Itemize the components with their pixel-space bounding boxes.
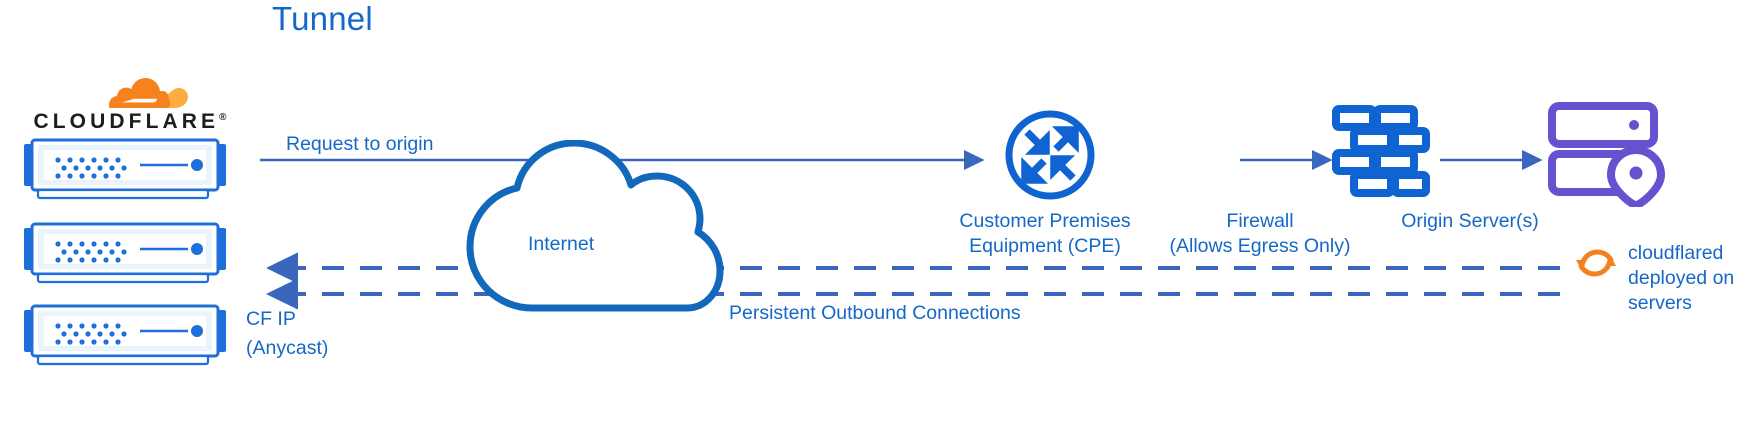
router-four-arrows-icon [1003,108,1097,202]
cf-server-unit-3 [22,304,228,366]
origin-server-label: Origin Server(s) [1310,209,1630,234]
origin-server-node [1548,102,1678,212]
origin-server-label-line1: Origin Server(s) [1310,209,1630,234]
origin-server-pin-icon [1548,102,1678,207]
cloudflared-annotation [1572,240,1620,291]
cloudflared-label-line2: deployed on [1628,266,1748,291]
cf-server-unit-1 [22,138,228,200]
cpe-label-line2: Equipment (CPE) [900,234,1190,259]
cloudflare-edge-server-icon [22,304,228,366]
cpe-node [1003,108,1097,207]
cf-ip-label-line2: (Anycast) [246,334,396,363]
cpe-label: Customer Premises Equipment (CPE) [900,209,1190,259]
cloudflare-wordmark: CLOUDFLARE® [30,110,230,134]
tunnel-architecture-diagram: Tunnel CLOUDFLARE® [0,0,1754,422]
page-title: Tunnel [272,6,373,31]
trademark-symbol: ® [219,112,226,123]
cloudflare-logo: CLOUDFLARE® [30,74,230,136]
cloudflare-edge-server-icon [22,138,228,200]
cloudflare-cloud-icon [30,74,230,114]
firewall-node [1332,105,1430,202]
cf-ip-label-line1: CF IP [246,305,396,334]
cloudflared-label: cloudflared deployed on servers [1628,241,1748,316]
wordmark-text: CLOUDFLARE [33,110,219,133]
cf-server-unit-2 [22,222,228,284]
cloudflared-label-line1: cloudflared [1628,241,1748,266]
cf-ip-label: CF IP (Anycast) [246,305,396,363]
brick-wall-firewall-icon [1332,105,1430,197]
cloudflare-edge-server-icon [22,222,228,284]
persistent-outbound-connections-label: Persistent Outbound Connections [729,301,1021,326]
sync-arrows-icon [1572,240,1620,286]
internet-label: Internet [528,232,594,257]
request-to-origin-label: Request to origin [286,132,433,157]
internet-cloud [440,140,730,320]
internet-cloud-icon [440,140,730,315]
cloudflared-label-line3: servers [1628,291,1748,316]
cpe-label-line1: Customer Premises [900,209,1190,234]
firewall-label-line2: (Allows Egress Only) [1155,234,1365,259]
